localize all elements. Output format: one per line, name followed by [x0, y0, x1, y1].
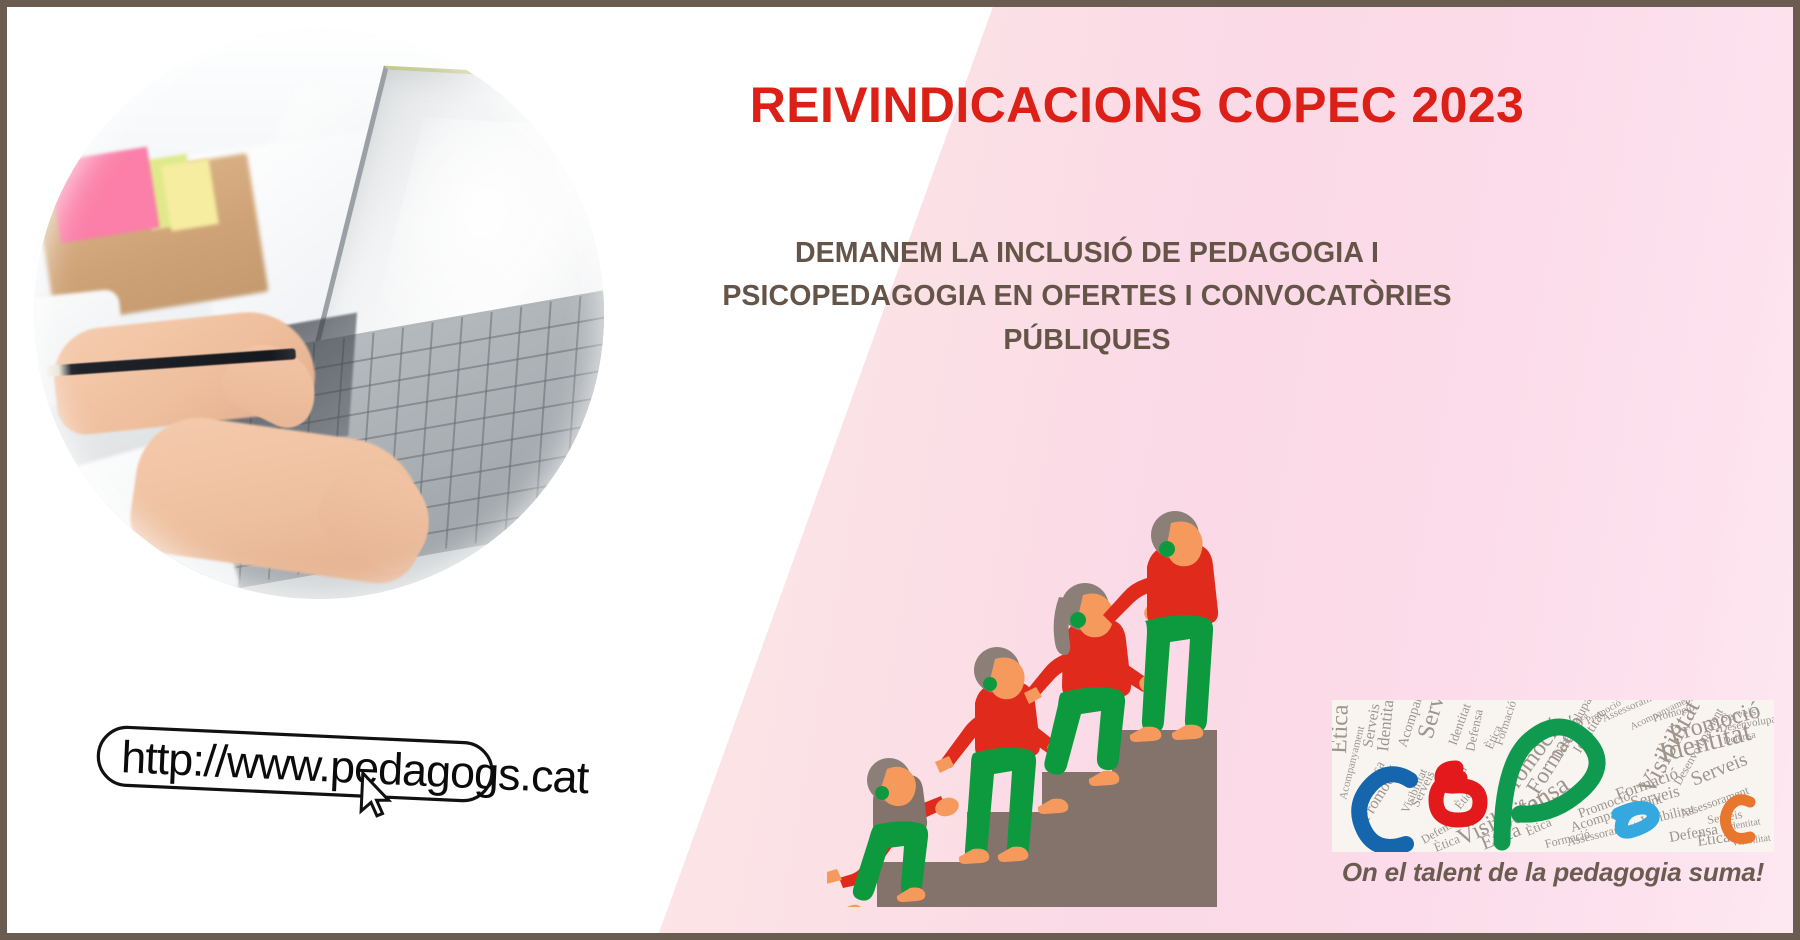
page-subtitle: DEMANEM LA INCLUSIÓ DE PEDAGOGIA I PSICO…	[667, 232, 1507, 362]
page-subtitle-line-2: PSICOPEDAGOGIA EN OFERTES I CONVOCATÒRIE…	[667, 275, 1507, 318]
copec-wordcloud: Ètica Serveis Identitat Acompanyament Se…	[1332, 700, 1774, 852]
poster-canvas: http://www.pedagogs.cat REIVINDICACIONS …	[0, 0, 1800, 940]
page-subtitle-line-3: PÚBLIQUES	[667, 319, 1507, 362]
copec-logo: Ètica Serveis Identitat Acompanyament Se…	[1332, 700, 1774, 890]
logo-tagline: On el talent de la pedagogia suma!	[1332, 857, 1774, 888]
people-climbing-stairs-illustration	[827, 507, 1227, 907]
laptop-photo	[34, 29, 604, 599]
photo-sticky-note-yellow	[161, 159, 219, 232]
photo-sticky-note-pink	[48, 147, 160, 244]
page-subtitle-line-1: DEMANEM LA INCLUSIÓ DE PEDAGOGIA I	[667, 232, 1507, 275]
page-title: REIVINDICACIONS COPEC 2023	[707, 79, 1567, 132]
